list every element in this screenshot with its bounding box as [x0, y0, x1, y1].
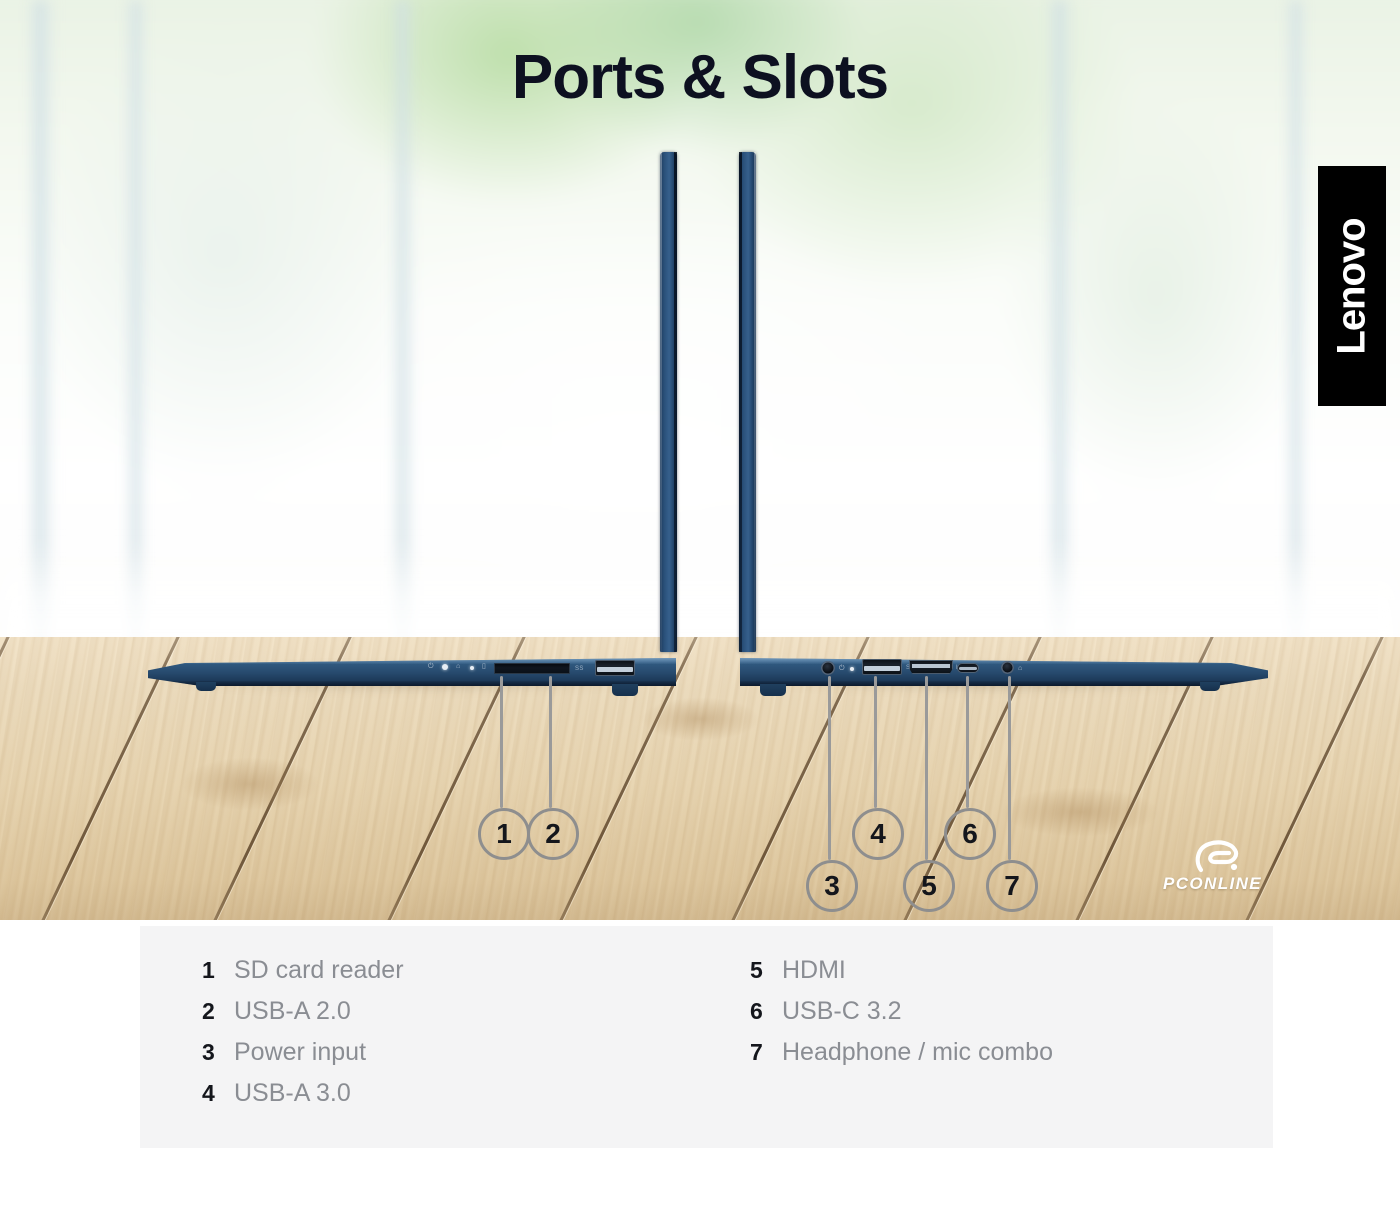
legend-row: 4USB-A 3.0	[202, 1079, 722, 1120]
base-bottom-edge	[148, 681, 676, 686]
power-led-icon	[442, 664, 448, 670]
laptop-foot	[1200, 682, 1220, 691]
headphone-symbol-icon: ⌂	[456, 663, 461, 670]
base-bottom-edge	[740, 681, 1268, 686]
callout-badge-3[interactable]: 3	[806, 860, 858, 912]
sd-card-reader-port	[494, 663, 570, 674]
sd-card-symbol-icon: ▯	[482, 663, 486, 670]
legend-label: USB-A 2.0	[234, 997, 351, 1026]
wood-knot	[180, 757, 320, 811]
legend-number: 7	[750, 1039, 782, 1066]
callout-leader-line-2	[549, 676, 552, 808]
page-title: Ports & Slots	[0, 42, 1400, 113]
power-input-port	[821, 661, 835, 675]
wood-knot	[640, 697, 760, 741]
callout-badge-2[interactable]: 2	[527, 808, 579, 860]
legend-label: Headphone / mic combo	[782, 1038, 1053, 1067]
hdmi-port	[909, 660, 953, 674]
callout-badge-7[interactable]: 7	[986, 860, 1038, 912]
callout-badge-4[interactable]: 4	[852, 808, 904, 860]
callout-leader-line-7	[1008, 676, 1011, 860]
charge-led-icon	[850, 667, 854, 671]
product-photo: ⏻ ⌂ ▯ SS ⏻	[0, 0, 1400, 920]
legend-label: USB-A 3.0	[234, 1079, 351, 1108]
callout-badge-1[interactable]: 1	[478, 808, 530, 860]
callout-leader-line-5	[925, 676, 928, 860]
laptop-left-screen-edge	[660, 152, 677, 652]
lid-shadow-edge	[739, 152, 742, 652]
callout-leader-line-3	[828, 676, 831, 860]
laptop-foot	[196, 682, 216, 691]
legend-row: 6USB-C 3.2	[750, 997, 1270, 1038]
laptop-right-screen-edge	[739, 152, 756, 652]
power-symbol-icon: ⏻	[428, 663, 434, 670]
ports-and-slots-infographic: ⏻ ⌂ ▯ SS ⏻	[0, 0, 1400, 1220]
legend-column-left: 1SD card reader2USB-A 2.03Power input4US…	[202, 926, 722, 1148]
callout-leader-line-1	[500, 676, 503, 808]
window-sill-glow	[0, 540, 1400, 650]
usb-c-port	[957, 663, 979, 673]
legend-row: 7Headphone / mic combo	[750, 1038, 1270, 1079]
status-led-icon	[470, 666, 474, 670]
callout-leader-line-4	[874, 676, 877, 808]
usb-a-left-label: SS	[575, 666, 584, 672]
lid-shadow-edge	[674, 152, 677, 652]
headphone-mic-combo-port	[1001, 661, 1014, 674]
usb-a-3-port	[862, 659, 902, 675]
callout-badge-6[interactable]: 6	[944, 808, 996, 860]
headphone-symbol-icon: ⌂	[1018, 665, 1023, 672]
callout-badge-5[interactable]: 5	[903, 860, 955, 912]
legend-label: SD card reader	[234, 956, 404, 985]
lid-highlight-edge	[754, 152, 756, 652]
lenovo-wordmark: Lenovo	[1330, 218, 1375, 354]
usb-a-2-port	[595, 660, 635, 676]
legend-number: 1	[202, 957, 234, 984]
callout-leader-line-6	[966, 676, 969, 808]
legend-number: 6	[750, 998, 782, 1025]
legend-label: Power input	[234, 1038, 366, 1067]
laptop-foot	[612, 684, 638, 696]
legend-panel: 1SD card reader2USB-A 2.03Power input4US…	[140, 926, 1273, 1148]
pconline-watermark: PCONLINE	[1163, 840, 1283, 902]
power-symbol-icon: ⏻	[839, 665, 845, 672]
legend-number: 4	[202, 1080, 234, 1107]
legend-number: 2	[202, 998, 234, 1025]
legend-row: 2USB-A 2.0	[202, 997, 722, 1038]
legend-label: HDMI	[782, 956, 846, 985]
lenovo-brand-badge: Lenovo	[1318, 166, 1386, 406]
legend-row: 5HDMI	[750, 956, 1270, 997]
legend-row: 1SD card reader	[202, 956, 722, 997]
laptop-foot	[760, 684, 786, 696]
legend-label: USB-C 3.2	[782, 997, 901, 1026]
legend-number: 3	[202, 1039, 234, 1066]
legend-number: 5	[750, 957, 782, 984]
legend-row: 3Power input	[202, 1038, 722, 1079]
pconline-wordmark: PCONLINE	[1163, 874, 1283, 894]
wood-knot	[1000, 787, 1160, 837]
lid-highlight-edge	[660, 152, 662, 652]
legend-column-right: 5HDMI6USB-C 3.27Headphone / mic combo	[750, 926, 1270, 1148]
